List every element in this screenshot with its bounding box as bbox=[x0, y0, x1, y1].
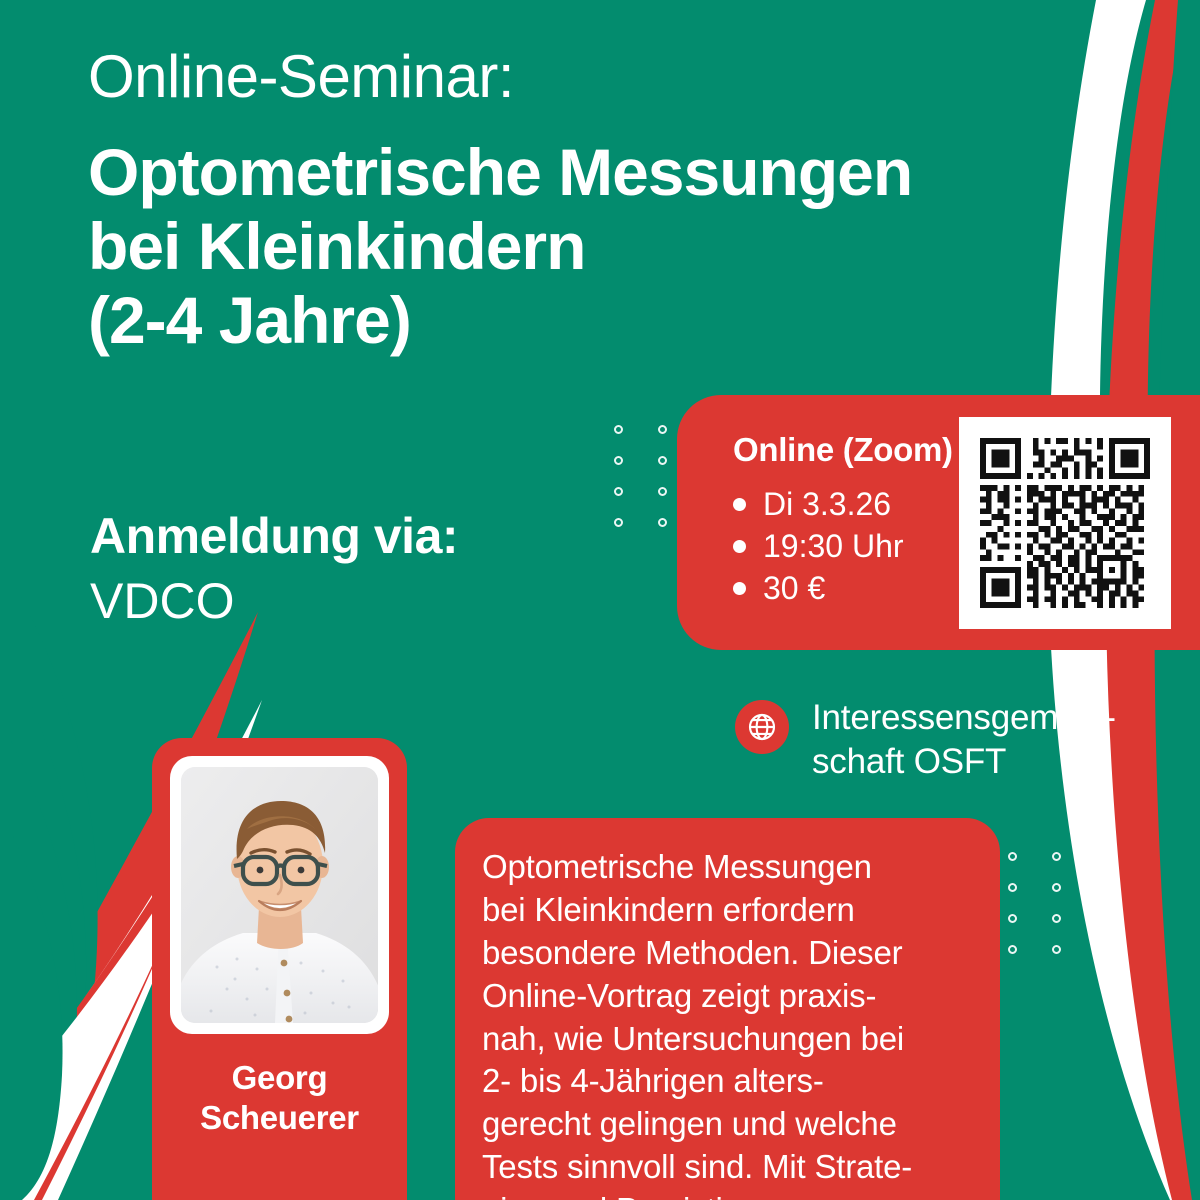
page-title: Optometrische Messungen bei Kleinkindern… bbox=[88, 136, 1068, 358]
dot bbox=[1052, 914, 1061, 923]
qr-code[interactable] bbox=[959, 417, 1171, 629]
dot-grid-right bbox=[1008, 852, 1105, 954]
dot bbox=[658, 487, 667, 496]
event-date: Di 3.3.26 bbox=[763, 483, 891, 525]
dot bbox=[1008, 945, 1017, 954]
portrait-photo bbox=[181, 767, 378, 1023]
dot bbox=[614, 518, 623, 527]
description-text: Optometrische Messungen bei Kleinkindern… bbox=[482, 846, 972, 1200]
speaker-card: Georg Scheuerer bbox=[152, 738, 407, 1200]
globe-glyph bbox=[746, 711, 778, 743]
globe-icon bbox=[735, 700, 789, 754]
dot bbox=[1008, 883, 1017, 892]
event-time: 19:30 Uhr bbox=[763, 525, 904, 567]
dot bbox=[614, 456, 623, 465]
dot bbox=[614, 425, 623, 434]
dot bbox=[658, 425, 667, 434]
dot bbox=[1008, 852, 1017, 861]
dot bbox=[658, 518, 667, 527]
event-price: 30 € bbox=[763, 567, 825, 609]
bullet-icon bbox=[733, 498, 746, 511]
kicker-text: Online-Seminar: bbox=[88, 45, 1068, 110]
dot-grid-left bbox=[614, 425, 667, 527]
qr-code-icon bbox=[980, 438, 1150, 608]
dot bbox=[1096, 914, 1105, 923]
registration-value: VDCO bbox=[90, 570, 610, 633]
dot bbox=[1096, 883, 1105, 892]
description-card: Optometrische Messungen bei Kleinkindern… bbox=[455, 818, 1000, 1200]
bullet-icon bbox=[733, 582, 746, 595]
bullet-icon bbox=[733, 540, 746, 553]
organisation-name: Interessensgemein- schaft OSFT bbox=[812, 696, 1116, 784]
registration-block: Anmeldung via: VDCO bbox=[90, 508, 610, 632]
registration-label: Anmeldung via: bbox=[90, 508, 610, 566]
dot bbox=[614, 487, 623, 496]
dot bbox=[1008, 914, 1017, 923]
photo-frame bbox=[170, 756, 389, 1034]
speaker-name: Georg Scheuerer bbox=[170, 1058, 389, 1137]
dot bbox=[1052, 945, 1061, 954]
dot bbox=[1052, 883, 1061, 892]
seminar-poster: Online-Seminar: Optometrische Messungen … bbox=[0, 0, 1200, 1200]
dot bbox=[1096, 945, 1105, 954]
avatar bbox=[181, 767, 378, 1023]
dot bbox=[658, 456, 667, 465]
organisation-row: Interessensgemein- schaft OSFT bbox=[735, 696, 1185, 784]
event-info-card: Online (Zoom) Di 3.3.26 19:30 Uhr 30 € bbox=[677, 395, 1200, 650]
headline-block: Online-Seminar: Optometrische Messungen … bbox=[88, 45, 1068, 358]
dot bbox=[1096, 852, 1105, 861]
dot bbox=[1052, 852, 1061, 861]
